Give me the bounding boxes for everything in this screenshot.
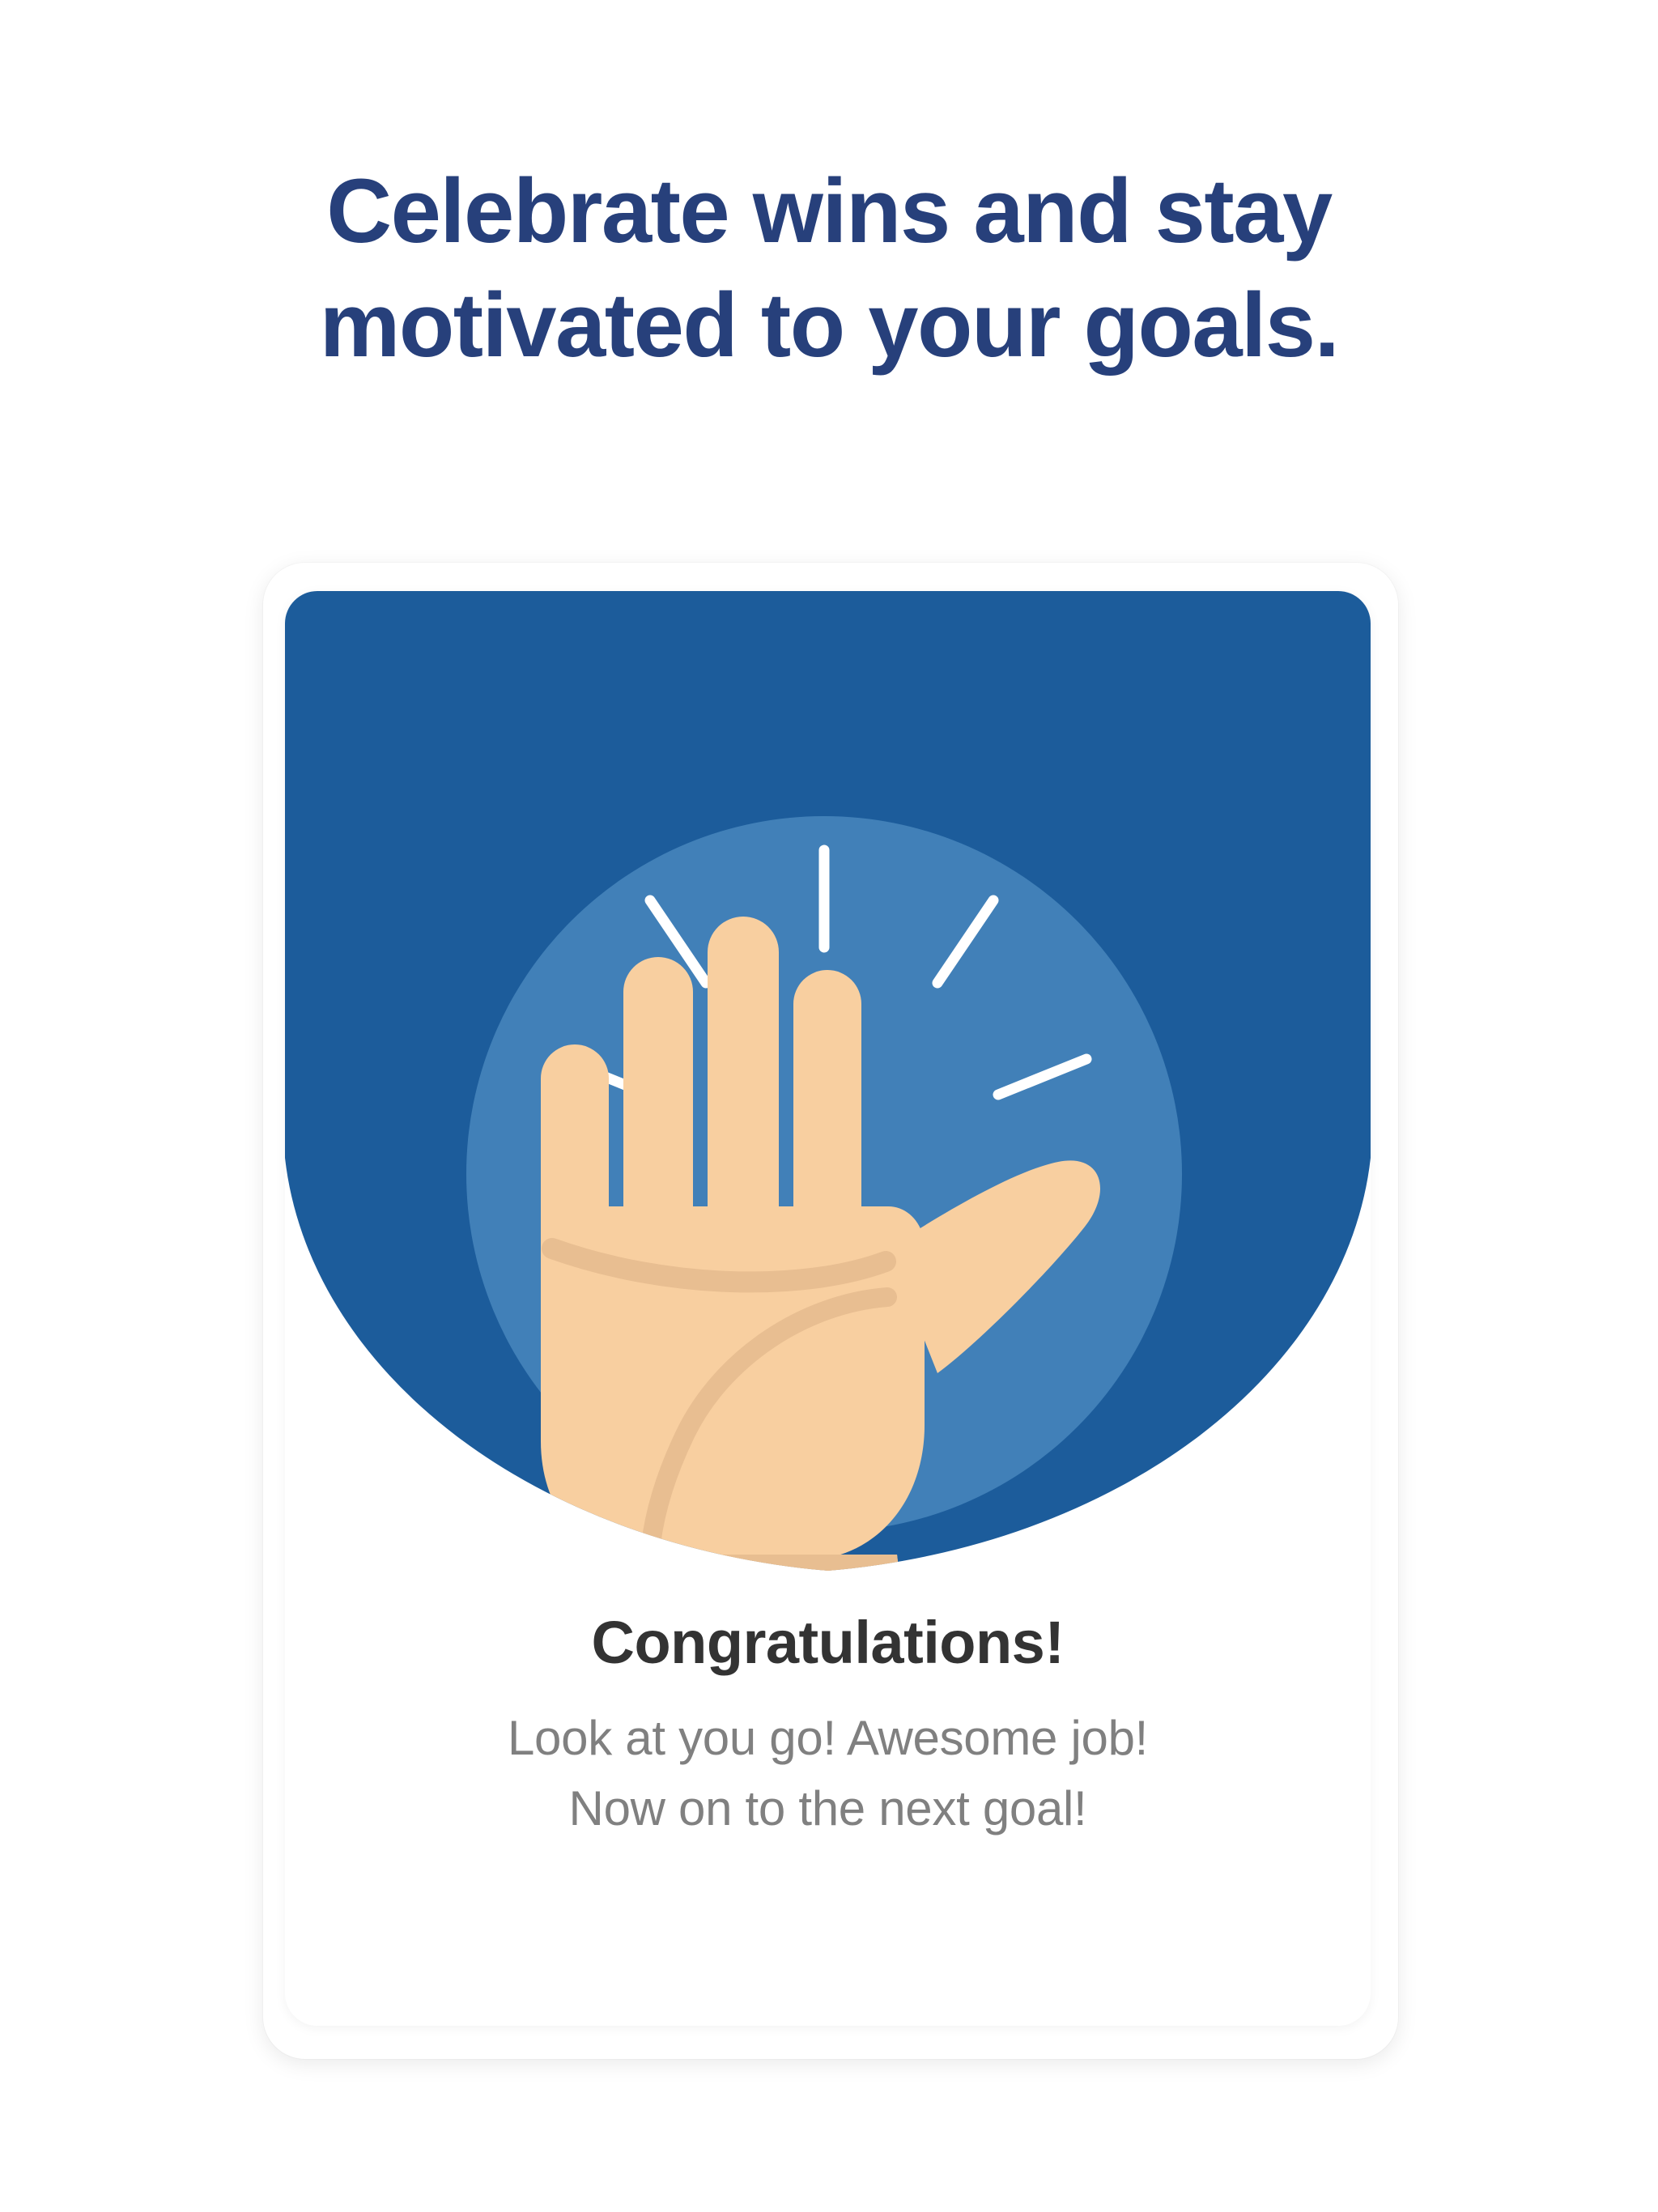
page-title-line-2: motivated to your goals. xyxy=(130,268,1528,382)
card-title: Congratulations! xyxy=(358,1610,1298,1675)
raised-hand-high-five-illustration xyxy=(285,591,1371,1571)
card-text-block: Congratulations! Look at you go! Awesome… xyxy=(285,1610,1371,1844)
onboarding-screen: Celebrate wins and stay motivated to you… xyxy=(0,0,1658,2212)
page-title-line-1: Celebrate wins and stay xyxy=(130,154,1528,268)
card-description: Look at you go! Awesome job! Now on to t… xyxy=(358,1703,1298,1844)
card-description-line-1: Look at you go! Awesome job! xyxy=(358,1703,1298,1773)
celebration-card: Congratulations! Look at you go! Awesome… xyxy=(263,563,1398,2059)
page-title: Celebrate wins and stay motivated to you… xyxy=(0,154,1658,382)
card-illustration-panel xyxy=(285,591,1371,1571)
wrist-shadow xyxy=(570,1555,905,1571)
card-inner-surface: Congratulations! Look at you go! Awesome… xyxy=(285,591,1371,2026)
card-description-line-2: Now on to the next goal! xyxy=(358,1773,1298,1844)
